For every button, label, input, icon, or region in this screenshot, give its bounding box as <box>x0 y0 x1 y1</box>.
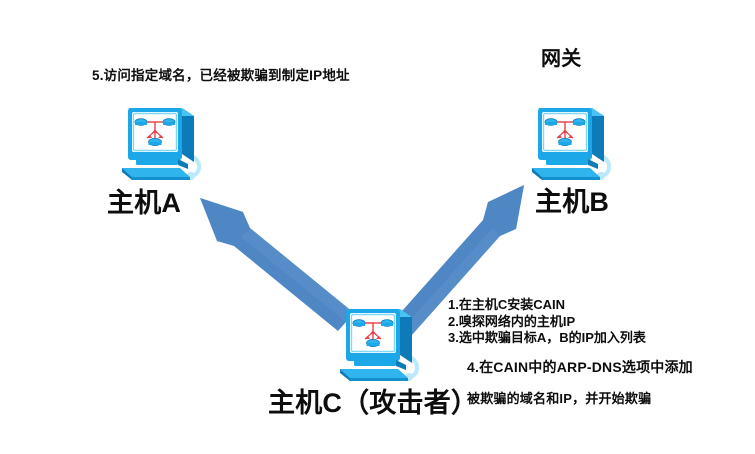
step-item-4-continuation: 被欺骗的域名和IP，并开始欺骗 <box>467 388 651 407</box>
step-item-3: 3.选中欺骗目标A，B的IP加入列表 <box>448 330 646 347</box>
host-c-computer-icon <box>332 303 424 383</box>
arrow-c-to-a <box>200 198 354 331</box>
step5-note: 5.访问指定域名，已经被欺骗到制定IP地址 <box>92 64 350 84</box>
steps-list: 1.在主机C安装CAIN 2.嗅探网络内的主机IP 3.选中欺骗目标A，B的IP… <box>448 297 646 347</box>
diagram-canvas: 5.访问指定域名，已经被欺骗到制定IP地址 网关 <box>0 0 755 454</box>
step-item-4: 4.在CAIN中的ARP-DNS选项中添加 <box>467 357 693 377</box>
host-a-label: 主机A <box>107 181 181 220</box>
step-item-1: 1.在主机C安装CAIN <box>448 297 646 314</box>
step-item-2: 2.嗅探网络内的主机IP <box>448 314 646 331</box>
gateway-label: 网关 <box>541 42 581 71</box>
host-b-label: 主机B <box>535 180 609 219</box>
host-c-label: 主机C（攻击者） <box>268 381 478 420</box>
host-b-computer-icon <box>524 102 616 182</box>
host-a-computer-icon <box>114 102 206 182</box>
